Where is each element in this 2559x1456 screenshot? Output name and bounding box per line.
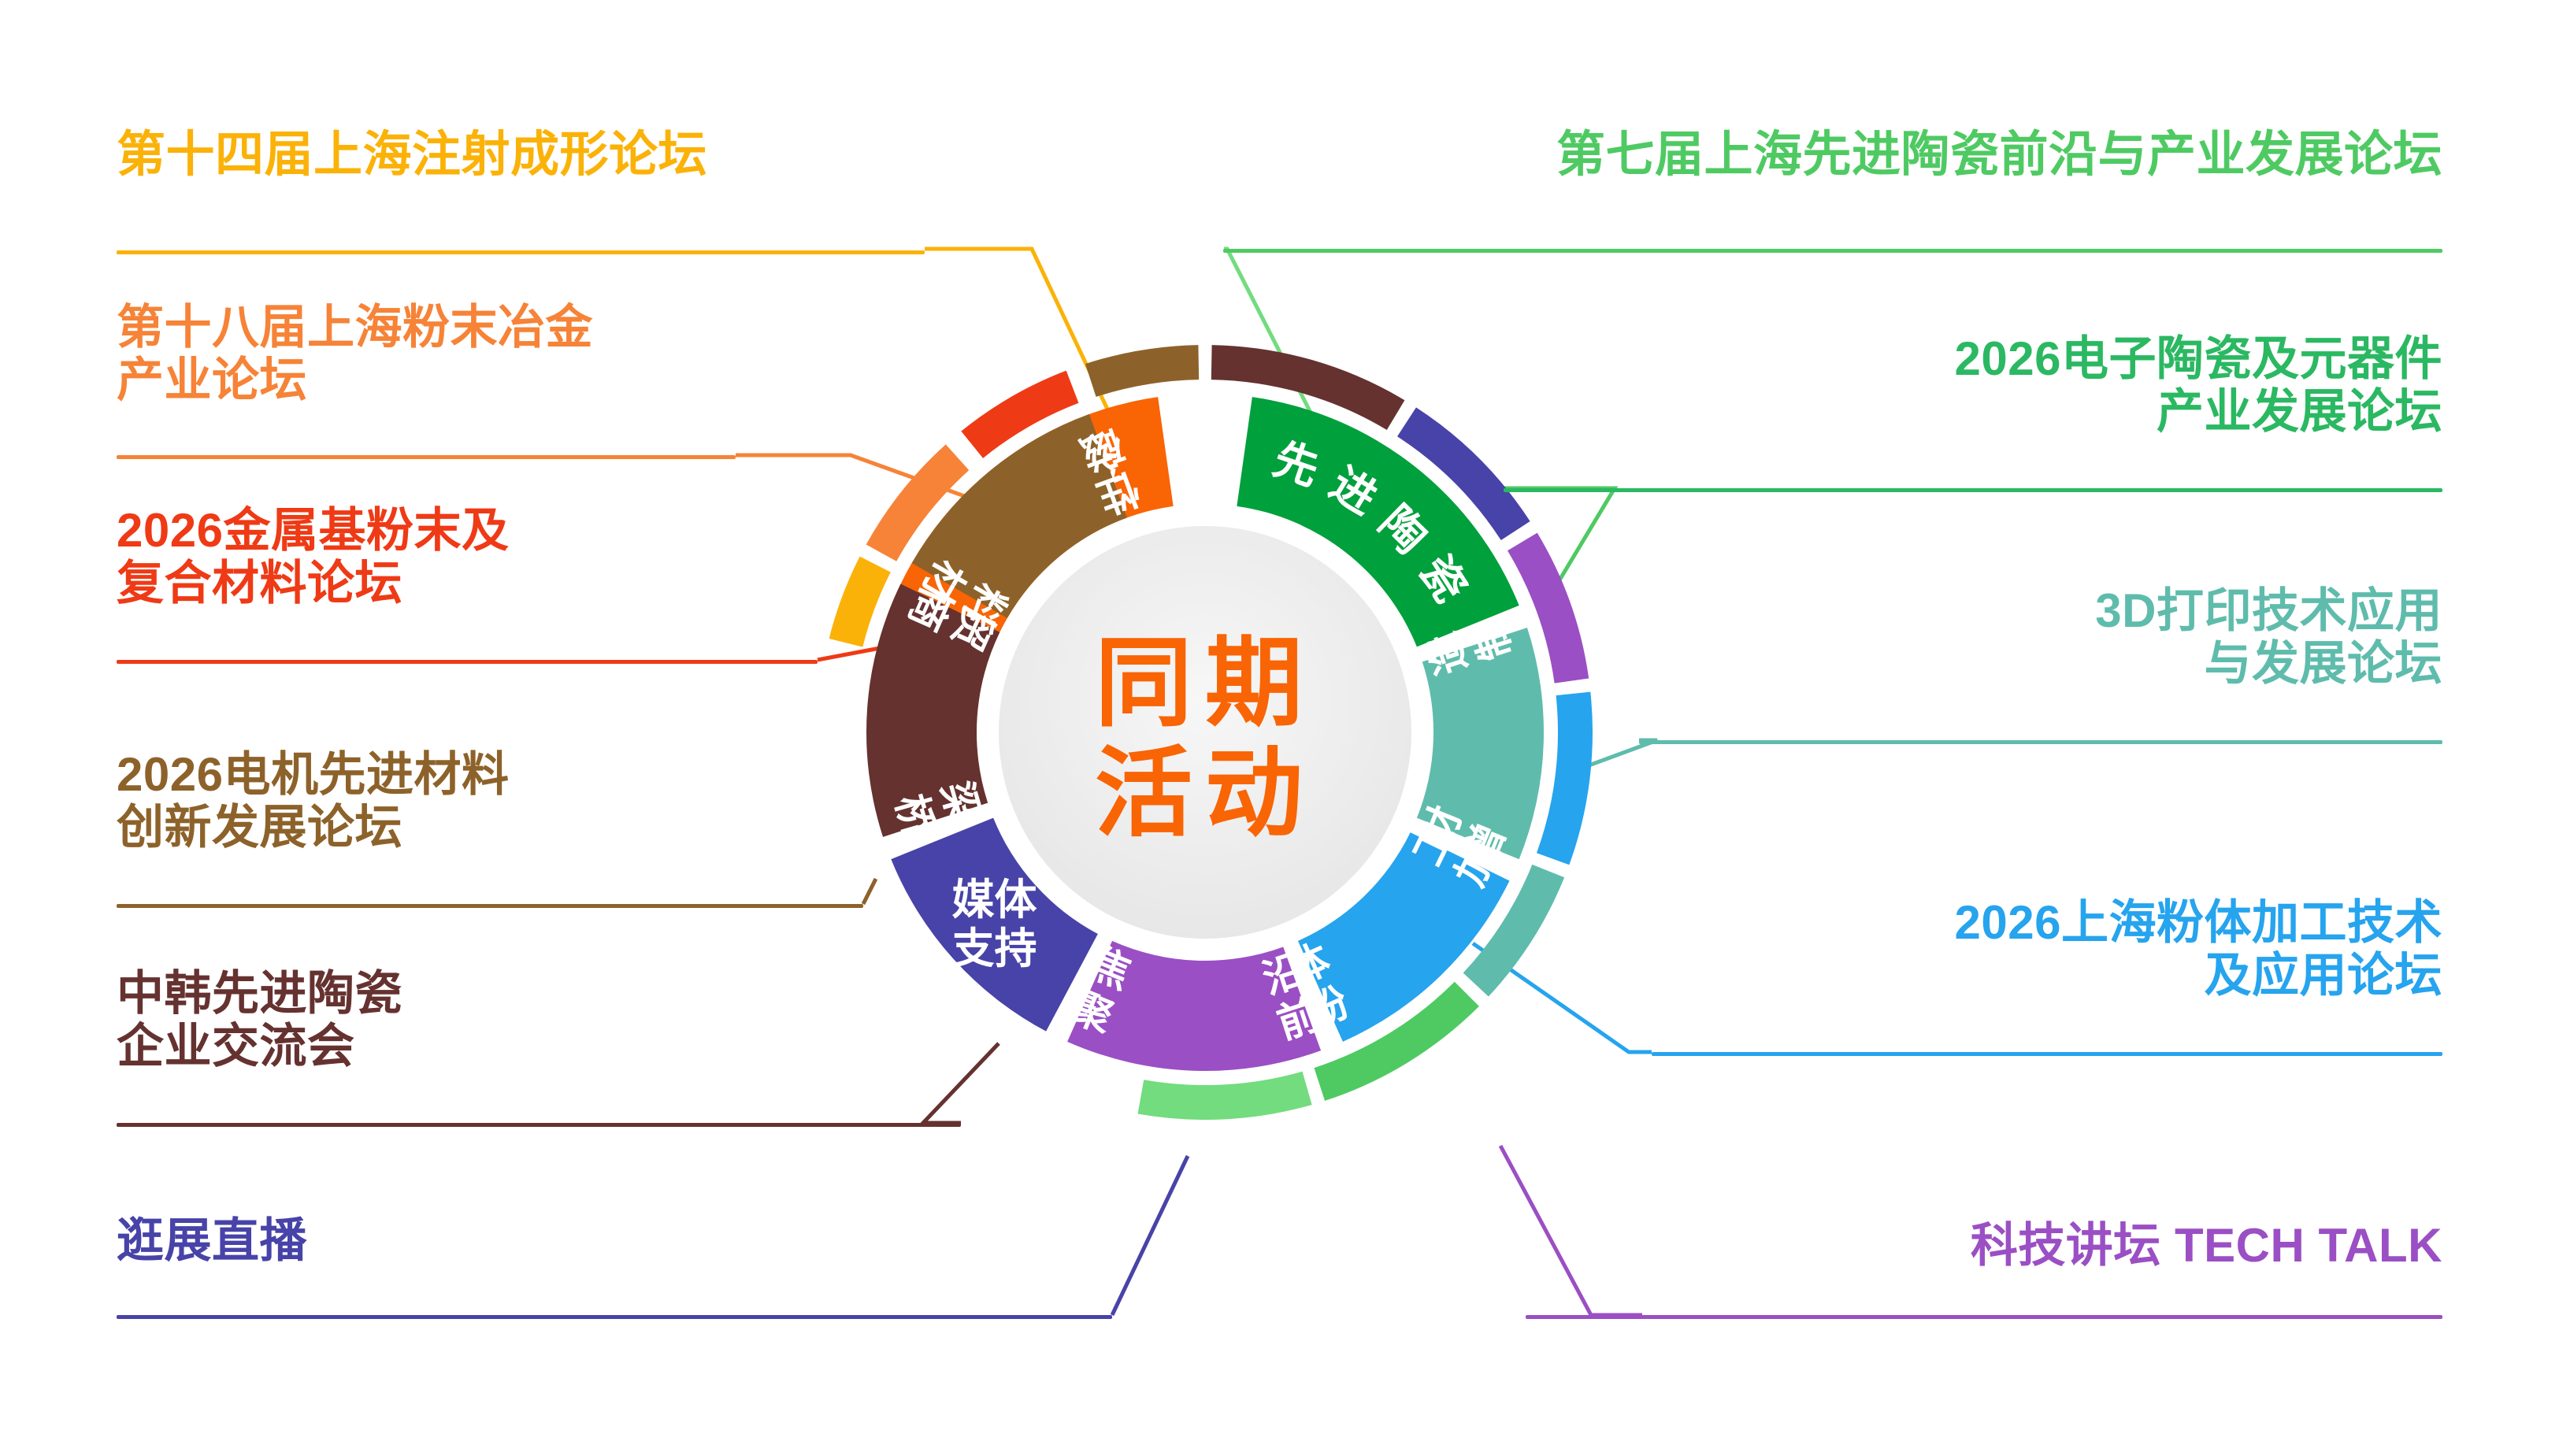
label-3d-printing-forum[interactable]: 3D打印技术应用 与发展论坛	[2095, 584, 2442, 690]
rule-tech-talk-forum	[1526, 1315, 2442, 1319]
label-expo-livestream[interactable]: 逛展直播	[117, 1214, 307, 1267]
segment-label-line: 媒体	[951, 876, 1037, 924]
leader-red	[818, 646, 892, 660]
leader-brown	[863, 879, 876, 904]
center-title-line2: 活动	[1095, 739, 1315, 848]
arc-maroon	[1211, 345, 1405, 430]
segment-label-char: 冶	[998, 476, 1063, 542]
arc-purple	[1508, 533, 1589, 684]
label-china-korea-ceramics-meet[interactable]: 中韩先进陶瓷 企业交流会	[117, 967, 402, 1073]
outer-arc-ring	[829, 345, 1593, 1120]
arc-amber	[829, 557, 891, 647]
segment-label-char: 制	[1465, 613, 1521, 665]
rule-injection-molding-forum	[117, 250, 925, 254]
segment-label-char: 加	[1448, 836, 1507, 893]
segment-advanced-ceramics[interactable]	[1237, 397, 1519, 646]
leader-purple	[1500, 1146, 1642, 1315]
segment-trade-bridge[interactable]	[866, 584, 999, 837]
rule-china-korea-ceramics-meet	[117, 1123, 961, 1127]
leader-teal	[1561, 740, 1657, 776]
segment-label-char: 体	[1281, 936, 1337, 995]
arc-orange	[866, 444, 970, 561]
label-powder-processing-forum[interactable]: 2026上海粉体加工技术 及应用论坛	[1955, 896, 2442, 1002]
rule-advanced-ceramics-forum	[1223, 249, 2442, 253]
segment-additive-manufacturing[interactable]	[1417, 628, 1544, 859]
leader-blue	[1473, 943, 1652, 1052]
infographic-canvas: 粉末冶金先进陶瓷增材制造粉体加工聚焦前沿媒体支持商贸桥梁磁性材料 同期 活动 第…	[0, 0, 2559, 1456]
leader-maroon	[923, 1043, 999, 1123]
segment-label-char: 工	[1405, 816, 1464, 872]
label-tech-talk-forum[interactable]: 科技讲坛 TECH TALK	[1971, 1219, 2442, 1272]
segment-powder-processing[interactable]	[1298, 832, 1510, 1042]
segment-powder-metallurgy[interactable]	[868, 397, 1173, 709]
label-advanced-ceramics-forum[interactable]: 第七届上海先进陶瓷前沿与产业发展论坛	[1556, 128, 2442, 182]
arc-indigo	[1397, 407, 1530, 540]
segment-label-char: 先	[1267, 433, 1325, 495]
label-motor-materials-forum[interactable]: 2026电机先进材料 创新发展论坛	[117, 748, 509, 854]
rule-metal-powder-composite-forum	[117, 660, 818, 664]
segment-label-char: 焦	[1082, 940, 1137, 998]
segment-media-support[interactable]	[891, 818, 1098, 1032]
segment-magnetic-materials[interactable]	[912, 414, 1127, 618]
label-metal-powder-composite-forum[interactable]: 2026金属基粉末及 复合材料论坛	[117, 504, 509, 609]
rule-electronic-ceramics-forum	[1504, 488, 2442, 492]
leader-indigo	[1112, 1156, 1188, 1315]
segment-label-line: 支持	[951, 925, 1037, 973]
segment-label-char: 进	[1322, 458, 1385, 524]
leader-lines	[736, 249, 1657, 1315]
arc-ltgreen	[1138, 1072, 1312, 1120]
rule-motor-materials-forum	[117, 904, 863, 908]
segment-label-char: 粉	[1300, 980, 1356, 1038]
leader-amber	[925, 249, 1136, 469]
segment-label-char: 末	[942, 534, 1008, 598]
arc-blue	[1537, 692, 1593, 865]
segment-label-char: 造	[1420, 627, 1476, 680]
wheel-hub	[999, 526, 1411, 939]
wheel-segments: 粉末冶金先进陶瓷增材制造粉体加工聚焦前沿媒体支持商贸桥梁磁性材料	[866, 397, 1544, 1071]
leader-ltgreen	[1224, 249, 1330, 451]
segment-label-char: 桥	[887, 790, 942, 842]
segment-label-char: 前	[1272, 992, 1325, 1048]
rule-3d-printing-forum	[1639, 740, 2442, 744]
segment-label-char: 商	[899, 581, 958, 637]
label-injection-molding-forum[interactable]: 第十四届上海注射成形论坛	[117, 128, 707, 182]
segment-label-char: 性	[1091, 464, 1145, 521]
arc-brown	[1085, 345, 1199, 397]
segment-label-char: 料	[954, 576, 1014, 634]
rule-powder-metallurgy-forum	[117, 455, 736, 459]
segment-label-char: 贸	[943, 601, 1001, 657]
segment-label-char: 磁	[1074, 420, 1129, 476]
label-electronic-ceramics-forum[interactable]: 2026电子陶瓷及元器件 产业发展论坛	[1955, 332, 2442, 438]
segment-label-char: 聚	[1063, 984, 1120, 1042]
rule-powder-processing-forum	[1652, 1052, 2442, 1056]
leader-orange	[736, 455, 1048, 526]
rule-expo-livestream	[117, 1315, 1112, 1319]
segment-label-char: 梁	[933, 776, 988, 828]
segment-label-char: 粉	[907, 608, 969, 666]
arc-red	[961, 371, 1078, 458]
segment-label-char: 瓷	[1411, 546, 1476, 610]
segment-frontier-focus[interactable]	[1067, 941, 1321, 1071]
leader-green	[1504, 488, 1615, 610]
segment-label-char: 沿	[1257, 947, 1310, 1003]
segment-label-char: 金	[1070, 437, 1130, 500]
segment-label-char: 材	[913, 552, 973, 610]
center-title-line1: 同期	[1095, 629, 1315, 738]
segment-label-char: 陶	[1370, 497, 1437, 563]
arc-green	[1314, 982, 1478, 1101]
arc-teal	[1463, 865, 1565, 997]
segment-label-char: 材	[1413, 800, 1470, 855]
segment-label-char: 增	[1456, 818, 1514, 873]
label-powder-metallurgy-forum[interactable]: 第十八届上海粉末冶金 产业论坛	[117, 301, 593, 406]
